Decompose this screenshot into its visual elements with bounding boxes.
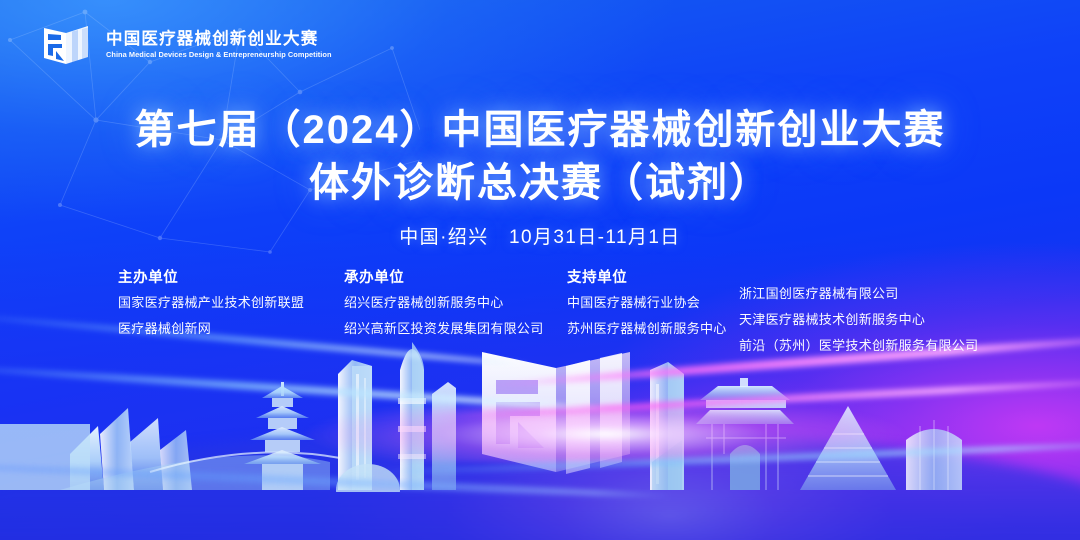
brand-name-cn: 中国医疗器械创新创业大赛: [106, 31, 332, 48]
organizer-column-supporter-extra: 浙江国创医疗器械有限公司 天津医疗器械技术创新服务中心 前沿（苏州）医学技术创新…: [739, 287, 978, 365]
title-line-1: 第七届（2024）中国医疗器械创新创业大赛: [0, 104, 1080, 157]
organizer-column-supporter: 支持单位 中国医疗器械行业协会 苏州医疗器械创新服务中心: [567, 266, 727, 348]
brand-logo: 中国医疗器械创新创业大赛 China Medical Devices Desig…: [42, 20, 332, 70]
organizer-item: 苏州医疗器械创新服务中心: [567, 322, 727, 335]
organizer-column-undertaker: 承办单位 绍兴医疗器械创新服务中心 绍兴高新区投资发展集团有限公司: [344, 266, 544, 348]
open-book-window-emblem-icon: [42, 20, 94, 70]
organizer-item: 国家医疗器械产业技术创新联盟: [118, 296, 304, 309]
organizer-item: 绍兴医疗器械创新服务中心: [344, 296, 544, 309]
organizer-column-host: 主办单位 国家医疗器械产业技术创新联盟 医疗器械创新网: [118, 266, 304, 348]
organizer-heading: 承办单位: [344, 266, 544, 287]
organizer-heading: 主办单位: [118, 266, 304, 287]
organizer-item: 中国医疗器械行业协会: [567, 296, 727, 309]
title-block: 第七届（2024）中国医疗器械创新创业大赛 体外诊断总决赛（试剂） 中国·绍兴 …: [0, 104, 1080, 249]
organizer-item: 前沿（苏州）医学技术创新服务有限公司: [739, 339, 978, 352]
title-line-2: 体外诊断总决赛（试剂）: [0, 157, 1080, 210]
event-location-date: 中国·绍兴 10月31日-11月1日: [0, 222, 1080, 249]
brand-logo-text: 中国医疗器械创新创业大赛 China Medical Devices Desig…: [106, 31, 332, 58]
organizer-item: 绍兴高新区投资发展集团有限公司: [344, 322, 544, 335]
organizer-heading: 支持单位: [567, 266, 727, 287]
event-banner: 中国医疗器械创新创业大赛 China Medical Devices Desig…: [0, 0, 1080, 540]
organizer-item: 医疗器械创新网: [118, 322, 304, 335]
organizer-item: 浙江国创医疗器械有限公司: [739, 287, 978, 300]
brand-name-en: China Medical Devices Design & Entrepren…: [106, 51, 332, 59]
organizers-block: 主办单位 国家医疗器械产业技术创新联盟 医疗器械创新网 承办单位 绍兴医疗器械创…: [0, 266, 1080, 366]
organizer-item: 天津医疗器械技术创新服务中心: [739, 313, 978, 326]
horizon-light-glow: [216, 406, 1080, 462]
